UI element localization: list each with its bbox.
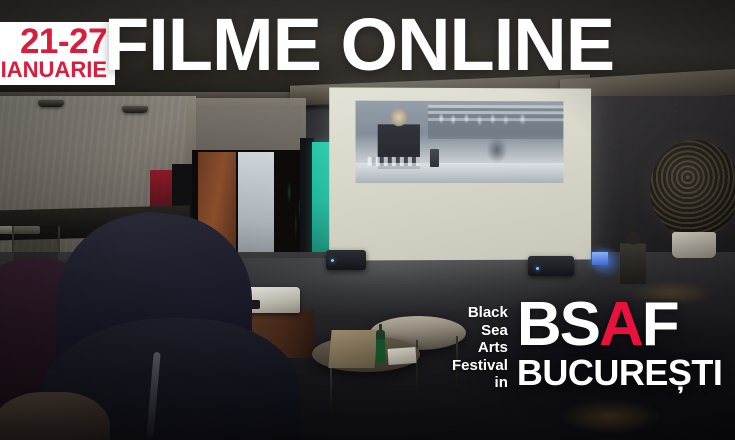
logo-city-name: BUCUREȘTI bbox=[517, 355, 723, 391]
tagline-line-in: in bbox=[495, 374, 508, 392]
film-counter-bottles bbox=[368, 157, 420, 166]
logo-acronym: BS A F bbox=[517, 300, 678, 351]
projection-screen bbox=[329, 87, 591, 260]
speaker-led-icon bbox=[536, 267, 539, 270]
film-background-figure bbox=[482, 133, 512, 167]
tagline-line-arts: Arts bbox=[478, 339, 508, 357]
table-leg bbox=[330, 368, 332, 414]
festival-tagline: Black Sea Arts Festival in bbox=[452, 300, 517, 392]
laptop-screen bbox=[592, 252, 608, 265]
date-month-text: IANUARIE bbox=[1, 59, 107, 81]
person-with-laptop bbox=[620, 232, 646, 284]
napkin bbox=[387, 347, 416, 365]
logo-acronym-a-accent: A bbox=[599, 300, 642, 351]
logo-marks: BS A F BUCUREȘTI bbox=[517, 300, 723, 391]
page-title: FILME ONLINE bbox=[104, 8, 614, 82]
festival-logo: Black Sea Arts Festival in BS A F BUCURE… bbox=[452, 300, 722, 392]
poster-canvas: 21-27 IANUARIE FILME ONLINE Black Sea Ar… bbox=[0, 0, 735, 440]
tagline-line-festival: Festival bbox=[452, 357, 508, 375]
film-cup bbox=[430, 149, 439, 167]
date-range-text: 21-27 bbox=[20, 26, 107, 58]
pa-speaker-right bbox=[528, 256, 574, 276]
speaker-led-icon bbox=[331, 259, 334, 262]
pa-speaker-left bbox=[326, 250, 366, 270]
logo-acronym-bs: BS bbox=[517, 300, 599, 351]
lamp-base bbox=[672, 232, 716, 258]
cardboard-box bbox=[328, 330, 377, 368]
tagline-line-black: Black bbox=[468, 304, 508, 322]
rattan-globe-lamp bbox=[650, 140, 735, 238]
projected-film-frame bbox=[356, 101, 564, 183]
warm-floor-light bbox=[540, 392, 680, 440]
logo-acronym-f: F bbox=[642, 300, 678, 351]
red-wall-sign bbox=[150, 170, 172, 210]
ceiling-spotlight-icon bbox=[38, 100, 64, 107]
tagline-line-sea: Sea bbox=[481, 322, 508, 340]
film-glassware bbox=[434, 108, 554, 134]
date-badge: 21-27 IANUARIE bbox=[0, 22, 115, 85]
wine-bottle bbox=[376, 330, 385, 364]
ceiling-spotlight-icon bbox=[122, 106, 148, 113]
